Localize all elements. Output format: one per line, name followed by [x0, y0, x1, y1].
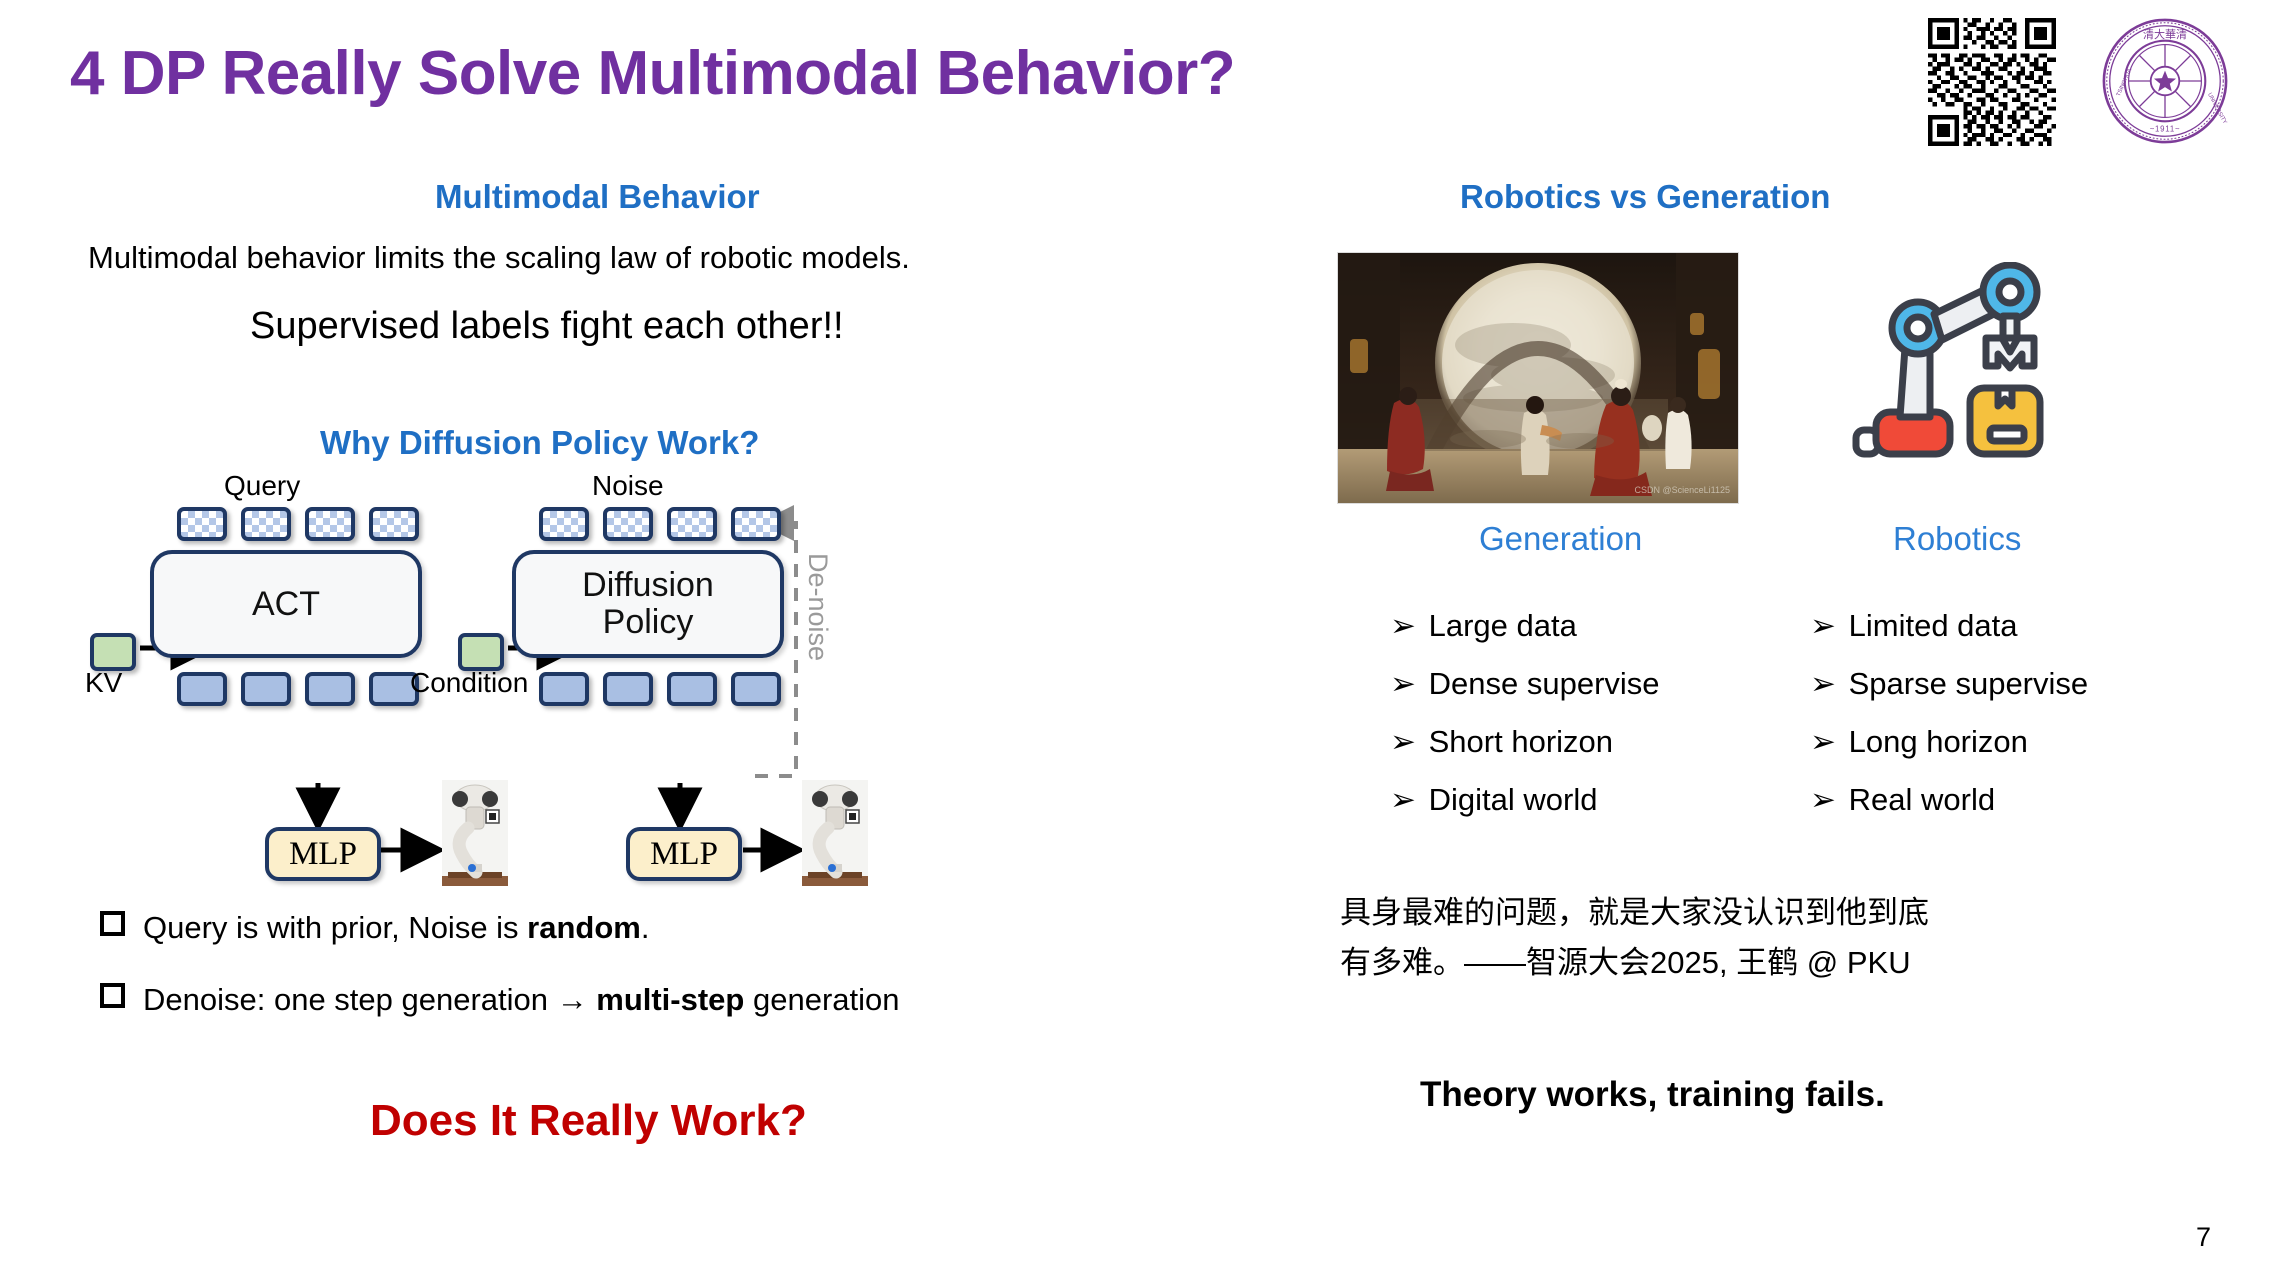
- bullet-1-bold: random: [527, 910, 641, 945]
- act-output-token: [241, 672, 291, 706]
- robot-arm-photo-left: [442, 780, 508, 886]
- chinese-quote-line-1: 具身最难的问题，就是大家没认识到他到底: [1340, 888, 2170, 938]
- chinese-quote-line-2: 有多难。——智源大会2025, 王鹤 @ PKU: [1340, 938, 2170, 988]
- list-item: Denoise: one step generation → multi-ste…: [100, 982, 900, 1018]
- de-noise-loop-label: De-noise: [802, 553, 833, 661]
- kv-label: KV: [85, 667, 122, 699]
- arrow-bullet-icon: ➢: [1810, 608, 1840, 644]
- condition-label: Condition: [410, 667, 528, 699]
- caption-generation: Generation: [1479, 520, 1642, 558]
- arrow-bullet-icon: ➢: [1390, 666, 1420, 702]
- dp-mlp-head: MLP: [626, 827, 742, 881]
- diffusion-policy-label-line1: Diffusion: [582, 567, 714, 604]
- query-token: [177, 507, 227, 541]
- bullet-2-bold: multi-step: [596, 982, 744, 1017]
- condition-input-box: [458, 633, 504, 671]
- list-item: ➢ Sparse supervise: [1810, 666, 2088, 702]
- page-title: 4 DP Really Solve Multimodal Behavior?: [70, 38, 1235, 109]
- list-item: ➢ Real world: [1810, 782, 2088, 818]
- generation-item-2: Short horizon: [1429, 724, 1613, 759]
- list-item: ➢ Large data: [1390, 608, 1660, 644]
- noise-token: [667, 507, 717, 541]
- arrow-bullet-icon: ➢: [1390, 608, 1420, 644]
- query-token: [241, 507, 291, 541]
- generation-attribute-list: ➢ Large data ➢ Dense supervise ➢ Short h…: [1390, 608, 1660, 840]
- caption-robotics: Robotics: [1893, 520, 2021, 558]
- act-output-token: [177, 672, 227, 706]
- act-mlp-head: MLP: [265, 827, 381, 881]
- act-model-box: ACT: [150, 550, 422, 658]
- diffusion-policy-label-line2: Policy: [603, 604, 694, 641]
- svg-text:~1911~: ~1911~: [2150, 125, 2181, 134]
- robotics-attribute-list: ➢ Limited data ➢ Sparse supervise ➢ Long…: [1810, 608, 2088, 840]
- dp-output-token: [539, 672, 589, 706]
- bullet-1-prefix: Query is with prior, Noise is: [143, 910, 527, 945]
- arrow-bullet-icon: ➢: [1810, 666, 1840, 702]
- supervised-labels-statement: Supervised labels fight each other!!: [250, 305, 844, 348]
- section-header-multimodal-behavior: Multimodal Behavior: [435, 178, 760, 216]
- section-header-why-diffusion-policy-work: Why Diffusion Policy Work?: [320, 424, 759, 462]
- robotics-item-1: Sparse supervise: [1849, 666, 2089, 701]
- callout-does-it-really-work: Does It Really Work?: [370, 1096, 807, 1146]
- section-header-robotics-vs-generation: Robotics vs Generation: [1460, 178, 1830, 216]
- square-bullet-icon: [100, 983, 125, 1008]
- list-item: ➢ Digital world: [1390, 782, 1660, 818]
- conclusion-theory-works-training-fails: Theory works, training fails.: [1420, 1075, 1885, 1115]
- tsinghua-university-seal-icon: 清大華清 ~1911~ TSINGHUA UNIVERSITY: [2100, 16, 2230, 146]
- arrow-bullet-icon: ➢: [1390, 782, 1420, 818]
- robot-arm-photo-right: [802, 780, 868, 886]
- noise-token: [539, 507, 589, 541]
- bullet-2-suffix: generation: [744, 982, 899, 1017]
- act-vs-diffusion-policy-diagram: Query ACT KV MLP Noise Diffusion Policy …: [80, 495, 1200, 885]
- robot-arm-icon: [1838, 262, 2068, 477]
- scaling-law-statement: Multimodal behavior limits the scaling l…: [88, 240, 910, 276]
- arrow-bullet-icon: ➢: [1390, 724, 1420, 760]
- query-token: [369, 507, 419, 541]
- list-item: ➢ Dense supervise: [1390, 666, 1660, 702]
- page-number: 7: [2196, 1222, 2211, 1253]
- bullet-2-prefix: Denoise: one step generation →: [143, 982, 596, 1017]
- noise-label: Noise: [592, 470, 664, 502]
- arrow-bullet-icon: ➢: [1810, 724, 1840, 760]
- square-bullet-icon: [100, 911, 125, 936]
- dp-output-token: [731, 672, 781, 706]
- generated-painting-image: CSDN @ScienceLi1125: [1337, 252, 1739, 504]
- robotics-item-3: Real world: [1849, 782, 1995, 817]
- diffusion-policy-model-box: Diffusion Policy: [512, 550, 784, 658]
- svg-text:清大華清: 清大華清: [2143, 27, 2187, 41]
- kv-input-box: [90, 633, 136, 671]
- generation-item-1: Dense supervise: [1429, 666, 1660, 701]
- arrow-bullet-icon: ➢: [1810, 782, 1840, 818]
- noise-token: [731, 507, 781, 541]
- generation-item-3: Digital world: [1429, 782, 1598, 817]
- generation-item-0: Large data: [1429, 608, 1577, 643]
- bullet-1-suffix: .: [641, 910, 650, 945]
- list-item: ➢ Short horizon: [1390, 724, 1660, 760]
- chinese-quote: 具身最难的问题，就是大家没认识到他到底 有多难。——智源大会2025, 王鹤 @…: [1340, 888, 2170, 988]
- noise-token: [603, 507, 653, 541]
- list-item: Query is with prior, Noise is random.: [100, 910, 649, 946]
- query-label: Query: [224, 470, 300, 502]
- act-output-token: [305, 672, 355, 706]
- list-item: ➢ Long horizon: [1810, 724, 2088, 760]
- query-token: [305, 507, 355, 541]
- dp-output-token: [603, 672, 653, 706]
- robotics-item-2: Long horizon: [1849, 724, 2028, 759]
- qr-code-icon: [1928, 18, 2056, 146]
- dp-output-token: [667, 672, 717, 706]
- robotics-item-0: Limited data: [1849, 608, 2018, 643]
- list-item: ➢ Limited data: [1810, 608, 2088, 644]
- image-watermark: CSDN @ScienceLi1125: [1634, 485, 1730, 495]
